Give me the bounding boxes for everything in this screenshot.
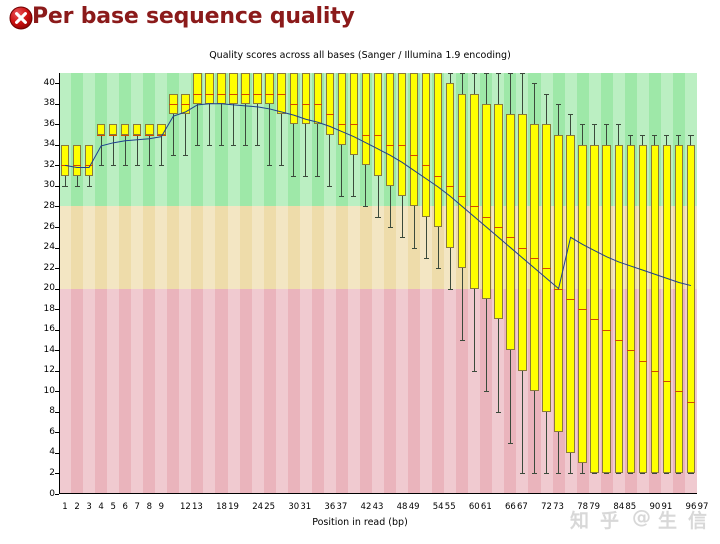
chart-title: Quality scores across all bases (Sanger … — [0, 50, 720, 61]
y-axis-tick-label: 4 — [11, 448, 55, 457]
fastqc-report-page: Per base sequence quality Quality scores… — [0, 0, 720, 531]
plot-area — [59, 73, 697, 494]
y-axis-tick-label: 32 — [11, 161, 55, 170]
x-axis: Position in read (bp) 123456789121318192… — [0, 497, 720, 531]
page-title: Per base sequence quality — [32, 4, 355, 29]
x-axis-title: Position in read (bp) — [0, 517, 720, 528]
error-cross-icon — [9, 6, 33, 30]
x-axis-tick-label: 97 — [689, 502, 717, 512]
y-axis-tick-label: 34 — [11, 140, 55, 149]
y-axis-tick-label: 38 — [11, 99, 55, 108]
module-header: Per base sequence quality — [0, 0, 720, 42]
y-axis-tick-label: 20 — [11, 284, 55, 293]
y-axis-tick-label: 8 — [11, 407, 55, 416]
y-axis-tick-label: 36 — [11, 120, 55, 129]
y-axis-tick-label: 28 — [11, 202, 55, 211]
y-axis-tick-label: 16 — [11, 325, 55, 334]
mean-quality-line — [59, 73, 697, 494]
y-axis-tick-label: 30 — [11, 181, 55, 190]
per-base-quality-chart: Quality scores across all bases (Sanger … — [0, 42, 720, 531]
y-axis: 0246810121416182022242628303234363840 — [0, 73, 55, 494]
y-axis-tick-label: 24 — [11, 243, 55, 252]
y-axis-tick-label: 14 — [11, 346, 55, 355]
y-axis-tick — [55, 494, 59, 495]
y-axis-tick-label: 18 — [11, 305, 55, 314]
y-axis-tick-label: 6 — [11, 428, 55, 437]
y-axis-tick-label: 22 — [11, 264, 55, 273]
y-axis-tick-label: 2 — [11, 469, 55, 478]
y-axis-tick-label: 26 — [11, 223, 55, 232]
y-axis-tick-label: 12 — [11, 366, 55, 375]
y-axis-tick-label: 10 — [11, 387, 55, 396]
y-axis-tick-label: 40 — [11, 79, 55, 88]
